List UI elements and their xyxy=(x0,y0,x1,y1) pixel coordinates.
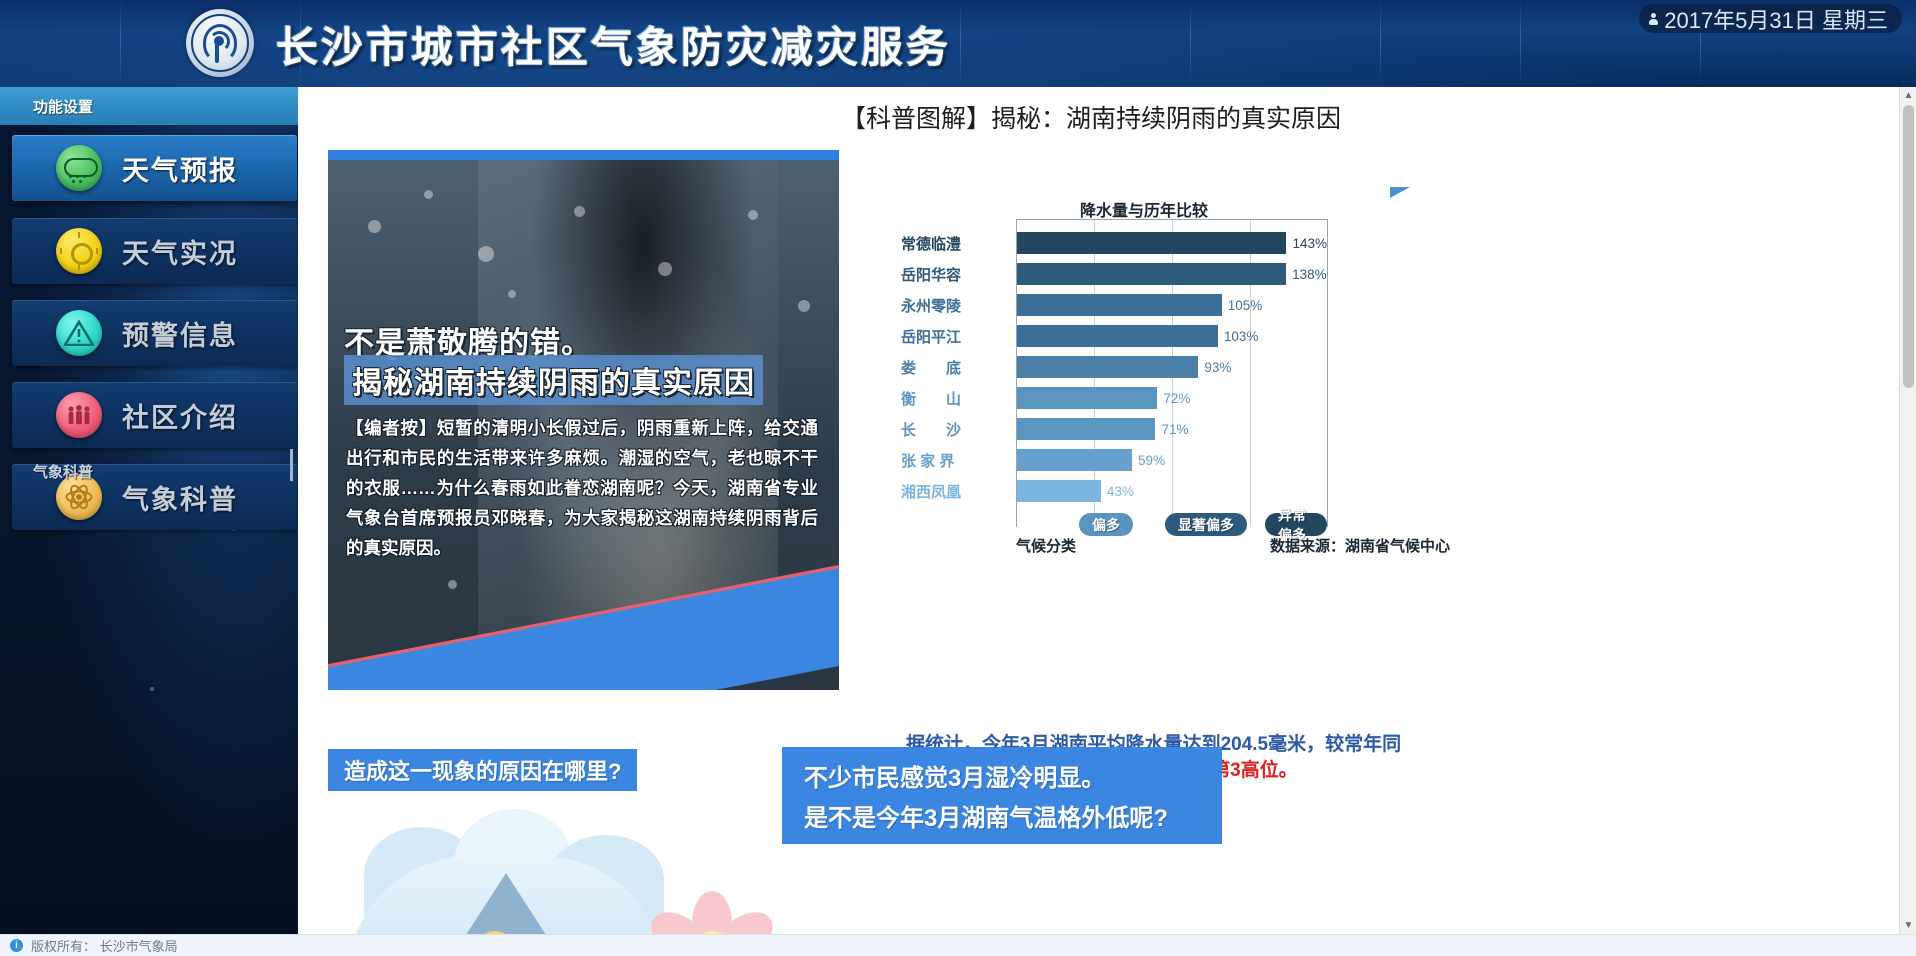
chart-bar xyxy=(1017,294,1222,316)
chart-bar xyxy=(1017,263,1286,285)
poster-headline-secondary: 揭秘湖南持续阴雨的真实原因 xyxy=(344,355,763,405)
chart-legend-chip: 异常偏多 xyxy=(1265,513,1327,536)
chevron-down-icon[interactable]: ▼ xyxy=(1900,917,1916,934)
chart-bar-value: 143% xyxy=(1292,236,1327,251)
chart-bar-value: 59% xyxy=(1138,453,1165,468)
chart-category-label: 湘西凤凰 xyxy=(901,481,1011,502)
chart-bar-value: 71% xyxy=(1161,422,1188,437)
chart-bar-row: 长 沙71% xyxy=(1017,418,1327,440)
sidebar-panel-header: 功能设置 xyxy=(0,87,298,125)
banner-line-1: 不少市民感觉3月湿冷明显。 xyxy=(804,759,1200,799)
article-poster-image: 不是萧敬腾的错。 揭秘湖南持续阴雨的真实原因 【编者按】短暂的清明小长假过后，阴… xyxy=(328,150,839,690)
cloud-sun-icon xyxy=(56,145,102,191)
chart-title: 降水量与历年比较 xyxy=(1080,197,1208,221)
sidebar-item-label: 天气预报 xyxy=(122,149,238,188)
chart-category-label: 衡 山 xyxy=(901,388,1011,409)
chart-bar xyxy=(1017,387,1157,409)
chart-bar-value: 138% xyxy=(1292,267,1327,282)
chart-legend-chip: 显著偏多 xyxy=(1165,513,1247,536)
sidebar-item-alerts[interactable]: 预警信息 xyxy=(12,300,297,366)
chart-category-label: 张 家 界 xyxy=(901,450,1011,471)
copyright-text: 版权所有： 长沙市气象局 xyxy=(31,936,178,955)
date-text: 2017年5月31日 星期三 xyxy=(1664,3,1888,35)
landscape-sun-flower-illustration-icon xyxy=(348,805,818,934)
user-icon xyxy=(1649,13,1658,25)
chart-bar-value: 93% xyxy=(1204,360,1231,375)
banner-cause-question: 造成这一现象的原因在哪里? xyxy=(328,749,637,791)
chart-bar-value: 105% xyxy=(1228,298,1263,313)
chart-bar-row: 娄 底93% xyxy=(1017,356,1327,378)
chart-category-label: 岳阳华容 xyxy=(901,264,1011,285)
sidebar-item-live-weather[interactable]: 天气实况 xyxy=(12,218,297,284)
selection-caret xyxy=(290,449,293,481)
chart-category-label: 永州零陵 xyxy=(901,295,1011,316)
chart-bar xyxy=(1017,480,1101,502)
chart-bar-row: 常德临澧143% xyxy=(1017,232,1327,254)
sidebar-item-label: 气象科普 xyxy=(122,478,238,517)
people-group-icon xyxy=(56,392,102,438)
footer-bar: i 版权所有： 长沙市气象局 xyxy=(0,934,1916,956)
chart-bar-value: 103% xyxy=(1224,329,1259,344)
chart-category-label: 岳阳平江 xyxy=(901,326,1011,347)
page-scrollbar[interactable]: ▲ ▼ xyxy=(1899,87,1916,934)
site-title: 长沙市城市社区气象防灾减灾服务 xyxy=(276,14,951,75)
chart-category-label: 娄 底 xyxy=(901,357,1011,378)
chart-source-label: 数据来源：湖南省气候中心 xyxy=(1270,535,1450,556)
page-title: 【科普图解】揭秘：湖南持续阴雨的真实原因 xyxy=(298,99,1884,135)
sidebar-panel-title: 功能设置 xyxy=(33,96,93,117)
sidebar-item-label: 社区介绍 xyxy=(122,396,238,435)
warning-triangle-icon xyxy=(56,310,102,356)
scrollbar-thumb[interactable] xyxy=(1903,105,1914,388)
chart-plot-area: 常德临澧143%岳阳华容138%永州零陵105%岳阳平江103%娄 底93%衡 … xyxy=(1016,219,1328,527)
chart-bar-row: 岳阳平江103% xyxy=(1017,325,1327,347)
chevron-up-icon[interactable]: ▲ xyxy=(1900,87,1916,104)
meteorological-bureau-emblem-icon xyxy=(186,9,254,77)
chart-category-label: 长 沙 xyxy=(901,419,1011,440)
chart-bar-value: 43% xyxy=(1107,484,1134,499)
chart-bar-row: 岳阳华容138% xyxy=(1017,263,1327,285)
breadcrumb: 气象科普 xyxy=(33,461,93,482)
sidebar: 功能设置 天气预报 天气实况 预警信息 社区介绍 xyxy=(0,87,298,934)
banner-temperature-question: 不少市民感觉3月湿冷明显。 是不是今年3月湖南气温格外低呢? xyxy=(782,747,1222,844)
sidebar-item-label: 天气实况 xyxy=(122,232,238,271)
info-icon: i xyxy=(10,939,23,952)
app-header: 长沙市城市社区气象防灾减灾服务 2017年5月31日 星期三 xyxy=(0,0,1916,87)
chart-category-label: 常德临澧 xyxy=(901,233,1011,254)
chart-bar xyxy=(1017,356,1198,378)
chart-xlabel: 气候分类 xyxy=(1016,535,1076,556)
chart-bar-row: 湘西凤凰43% xyxy=(1017,480,1327,502)
precipitation-comparison-chart: 降水量与历年比较 常德临澧143%岳阳华容138%永州零陵105%岳阳平江103… xyxy=(888,197,1488,627)
chart-bar-row: 张 家 界59% xyxy=(1017,449,1327,471)
chart-bar-row: 衡 山72% xyxy=(1017,387,1327,409)
chart-bar-row: 永州零陵105% xyxy=(1017,294,1327,316)
chart-bar xyxy=(1017,325,1218,347)
chart-bar-value: 72% xyxy=(1163,391,1190,406)
chart-legend-chip: 偏多 xyxy=(1079,513,1133,536)
sun-icon xyxy=(56,228,102,274)
date-display: 2017年5月31日 星期三 xyxy=(1639,4,1902,33)
flower-icon xyxy=(648,891,776,934)
banner-line-2: 是不是今年3月湖南气温格外低呢? xyxy=(804,799,1200,839)
main-content: 【科普图解】揭秘：湖南持续阴雨的真实原因 不是萧敬腾的错。 揭秘湖南持续阴雨的真… xyxy=(298,87,1899,934)
poster-body-text: 【编者按】短暂的清明小长假过后，阴雨重新上阵，给交通出行和市民的生活带来许多麻烦… xyxy=(346,413,818,563)
chart-bar xyxy=(1017,449,1132,471)
sidebar-item-label: 预警信息 xyxy=(122,314,238,353)
sidebar-item-weather-forecast[interactable]: 天气预报 xyxy=(12,135,297,201)
chart-corner-marker xyxy=(1390,187,1410,198)
sidebar-item-community-intro[interactable]: 社区介绍 xyxy=(12,382,297,448)
chart-bar xyxy=(1017,418,1155,440)
chart-bar xyxy=(1017,232,1286,254)
